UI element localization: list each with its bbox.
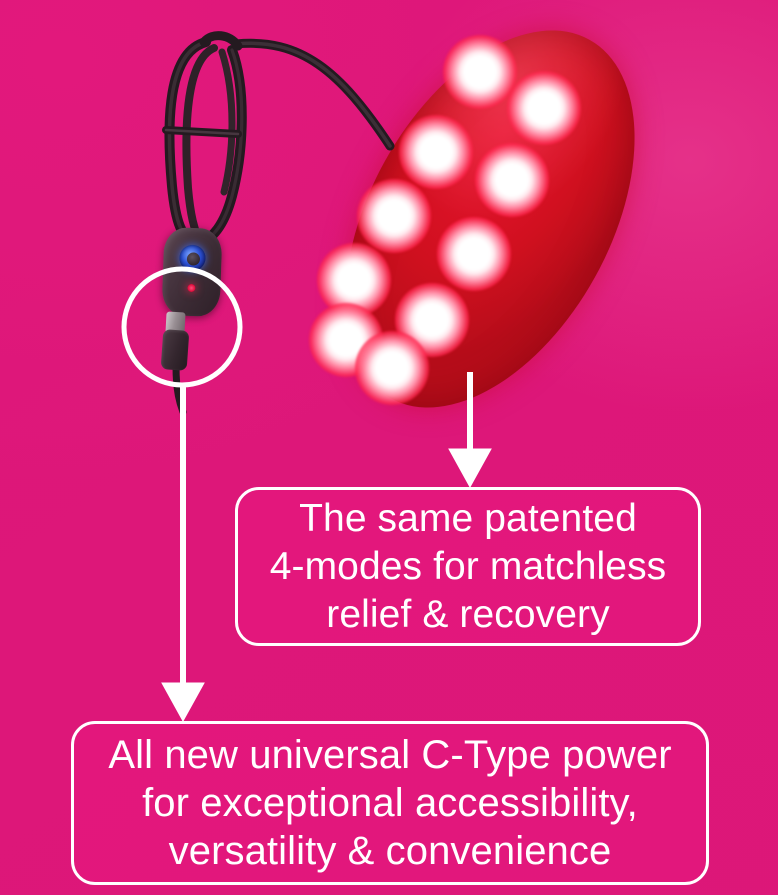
- arrow-to-modes-callout-head: [449, 449, 491, 487]
- led-6: [437, 217, 511, 291]
- mode-power-button[interactable]: [179, 245, 206, 272]
- arrow-to-power-callout-head: [162, 683, 204, 721]
- led-1: [443, 35, 517, 109]
- led-2: [507, 71, 581, 145]
- inline-controller[interactable]: [161, 227, 222, 317]
- callout-power: All new universal C-Type powerfor except…: [71, 721, 709, 885]
- button-core: [186, 252, 199, 265]
- callout-modes: The same patented4-modes for matchlessre…: [235, 487, 701, 646]
- led-10: [355, 331, 429, 405]
- led-4: [475, 143, 549, 217]
- status-indicator-led: [187, 284, 195, 292]
- callout-power-text: All new universal C-Type powerfor except…: [108, 731, 671, 875]
- led-3: [399, 115, 473, 189]
- callout-modes-text: The same patented4-modes for matchlessre…: [270, 495, 667, 639]
- product-infographic: The same patented4-modes for matchlessre…: [0, 0, 778, 895]
- led-therapy-pad: [284, 8, 696, 428]
- usb-c-connector-body: [161, 329, 190, 371]
- led-5: [357, 179, 431, 253]
